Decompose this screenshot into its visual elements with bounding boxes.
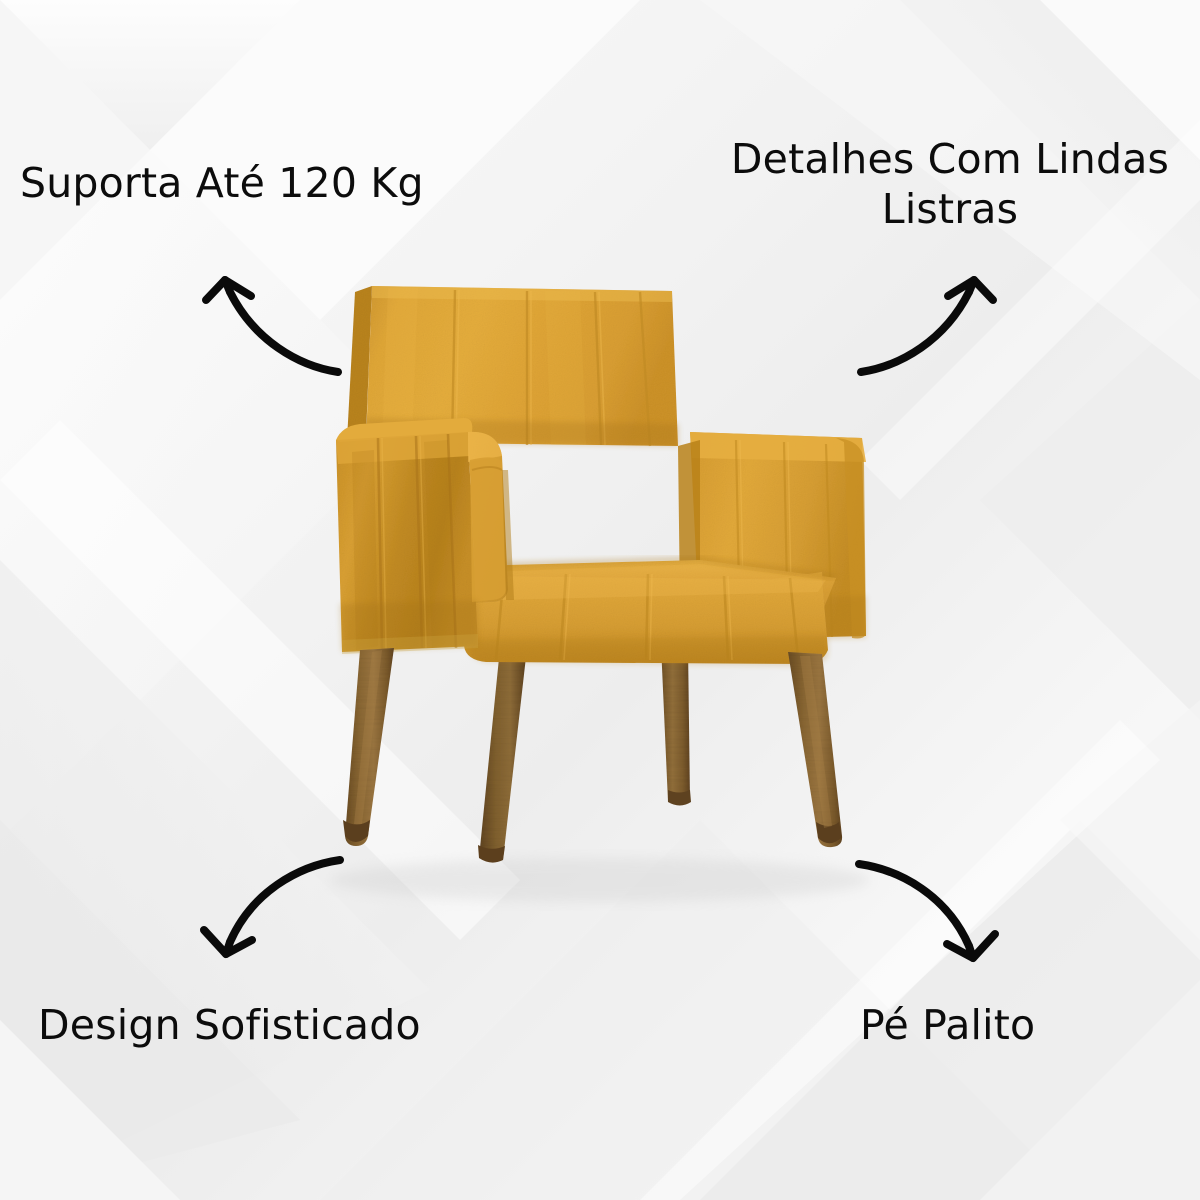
arrow-bottom-right-icon <box>845 840 1035 980</box>
callout-label-suporta-ate-120-kg: Suporta Até 120 Kg <box>20 158 424 208</box>
callout-label-pe-palito: Pé Palito <box>860 1000 1035 1050</box>
arrow-top-left-icon <box>190 250 380 400</box>
callout-label-design-sofisticado: Design Sofisticado <box>38 1000 421 1050</box>
product-feature-image: Suporta Até 120 Kg Detalhes Com Lindas L… <box>0 0 1200 1200</box>
chair-seat <box>464 559 836 666</box>
arrow-bottom-left-icon <box>190 838 380 978</box>
chair-front-legs <box>343 648 842 847</box>
arrow-top-right-icon <box>845 250 1035 400</box>
chair-legs <box>478 645 691 863</box>
callout-label-detalhes-com-lindas-listras: Detalhes Com Lindas Listras <box>700 134 1200 234</box>
